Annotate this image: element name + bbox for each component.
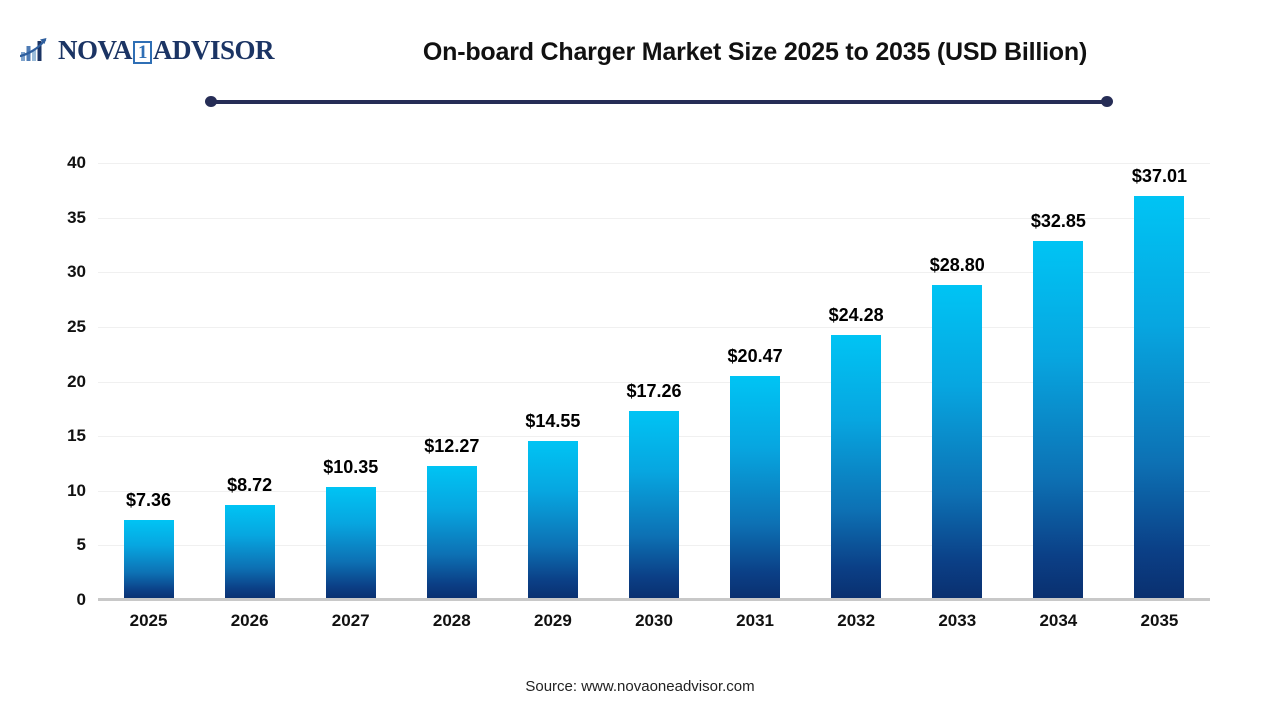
bar-value-label: $37.01: [1112, 166, 1206, 187]
bar-value-label: $7.36: [102, 490, 196, 511]
bar-value-label: $8.72: [203, 475, 297, 496]
y-axis-tick-label: 25: [46, 317, 86, 337]
bar-value-label: $28.80: [910, 255, 1004, 276]
bar-column: $12.27: [427, 163, 477, 600]
divider-dot-right-icon: [1101, 96, 1113, 107]
bar: [1033, 241, 1083, 600]
source-note: Source: www.novaoneadvisor.com: [0, 678, 1280, 695]
bar: [124, 520, 174, 600]
bar-column: $17.26: [629, 163, 679, 600]
y-axis-tick-label: 0: [46, 590, 86, 610]
divider-line: [211, 100, 1107, 104]
chart-title: On-board Charger Market Size 2025 to 203…: [290, 38, 1220, 67]
x-axis-tick-label: 2025: [102, 611, 196, 631]
y-axis-tick-label: 30: [46, 262, 86, 282]
bar-column: $8.72: [225, 163, 275, 600]
bar-value-label: $24.28: [809, 305, 903, 326]
bar-chart-arrow-icon: [20, 37, 56, 63]
x-axis-line: [98, 598, 1210, 601]
bar: [427, 466, 477, 600]
y-axis-tick-label: 20: [46, 372, 86, 392]
x-axis-tick-label: 2035: [1112, 611, 1206, 631]
brand-wordmark: NOVA1ADVISOR: [58, 35, 274, 66]
logo-badge-one: 1: [133, 41, 152, 64]
bar: [225, 505, 275, 600]
x-axis-tick-label: 2028: [405, 611, 499, 631]
x-axis-tick-label: 2032: [809, 611, 903, 631]
bar: [1134, 196, 1184, 600]
x-axis-tick-label: 2027: [304, 611, 398, 631]
bar: [326, 487, 376, 600]
y-axis-tick-label: 5: [46, 535, 86, 555]
bar-column: $32.85: [1033, 163, 1083, 600]
bar-column: $14.55: [528, 163, 578, 600]
bar-column: $37.01: [1134, 163, 1184, 600]
bar-column: $20.47: [730, 163, 780, 600]
x-axis-tick-label: 2030: [607, 611, 701, 631]
bar-value-label: $20.47: [708, 346, 802, 367]
x-axis-tick-label: 2026: [203, 611, 297, 631]
bar-value-label: $12.27: [405, 436, 499, 457]
x-axis-tick-label: 2029: [506, 611, 600, 631]
plot-area: $7.36$8.72$10.35$12.27$14.55$17.26$20.47…: [98, 163, 1210, 600]
logo-text-right: ADVISOR: [153, 35, 274, 66]
bar-value-label: $32.85: [1011, 211, 1105, 232]
x-axis-tick-label: 2034: [1011, 611, 1105, 631]
y-axis-tick-label: 40: [46, 153, 86, 173]
bar-column: $7.36: [124, 163, 174, 600]
logo-text-left: NOVA: [58, 35, 132, 66]
chart-page: NOVA1ADVISOR On-board Charger Market Siz…: [0, 0, 1280, 720]
bar-column: $28.80: [932, 163, 982, 600]
brand-logo: NOVA1ADVISOR: [20, 34, 274, 66]
bar: [730, 376, 780, 600]
y-axis-tick-label: 15: [46, 426, 86, 446]
bar: [932, 285, 982, 600]
bar: [528, 441, 578, 600]
title-divider: [205, 96, 1113, 107]
bar-value-label: $17.26: [607, 381, 701, 402]
bar-value-label: $10.35: [304, 457, 398, 478]
y-axis-tick-label: 35: [46, 208, 86, 228]
bar: [831, 335, 881, 600]
x-axis-tick-label: 2031: [708, 611, 802, 631]
bar: [629, 411, 679, 600]
bar-column: $24.28: [831, 163, 881, 600]
bar-value-label: $14.55: [506, 411, 600, 432]
bar-column: $10.35: [326, 163, 376, 600]
x-axis-tick-label: 2033: [910, 611, 1004, 631]
y-axis-tick-label: 10: [46, 481, 86, 501]
